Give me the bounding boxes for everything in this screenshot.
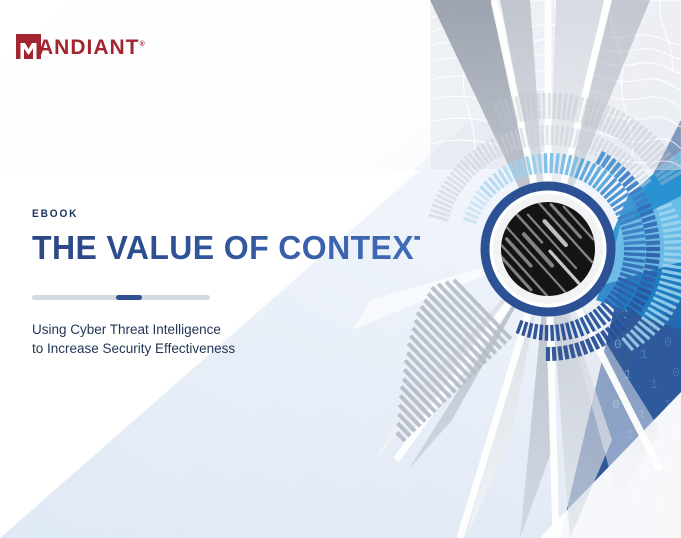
trademark-symbol: ® (140, 41, 145, 48)
ebook-cover: 101 010 110 011 100 011 10 (0, 0, 681, 538)
eyebrow-label: EBOOK (32, 208, 400, 220)
divider (32, 295, 210, 300)
divider-accent (116, 295, 143, 300)
subtitle-line-1: Using Cyber Threat Intelligence (32, 320, 432, 339)
mandiant-logo[interactable]: ANDIANT® (16, 32, 145, 60)
page-title: THE VALUE OF CONTEXT (32, 231, 420, 264)
subtitle: Using Cyber Threat Intelligence to Incre… (32, 320, 432, 358)
central-emblem (482, 183, 614, 315)
subtitle-line-2: to Increase Security Effectiveness (32, 339, 432, 358)
svg-text:0: 0 (614, 337, 622, 352)
cover-text-block: EBOOK THE VALUE OF CONTEXT Using Cyber T… (32, 208, 432, 358)
logo-wordmark: ANDIANT® (38, 32, 145, 60)
